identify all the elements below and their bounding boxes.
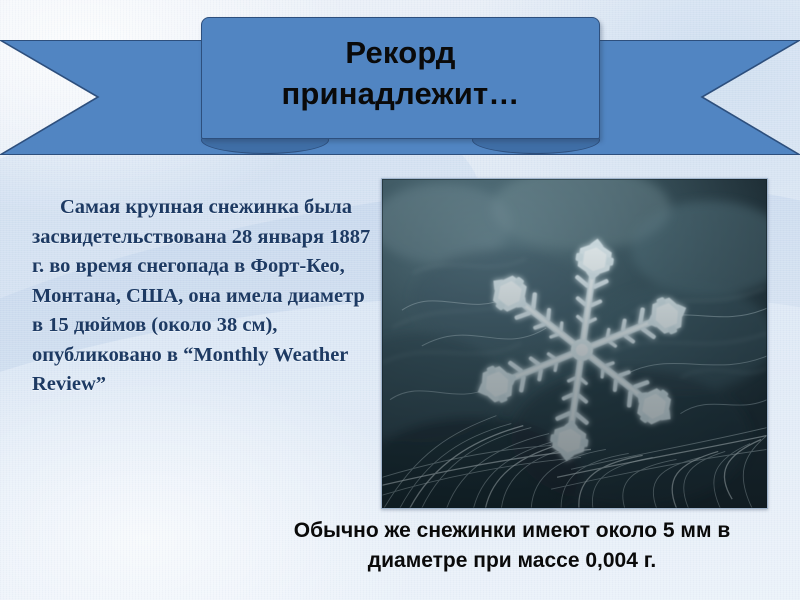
title-ribbon-banner: Рекорд принадлежит… [0, 0, 800, 170]
snowflake-photo [381, 178, 768, 509]
ribbon-title-panel: Рекорд принадлежит… [201, 17, 600, 139]
slide-title-line-1: Рекорд [216, 33, 585, 74]
slide-caption: Обычно же снежинки имеют около 5 мм в ди… [248, 516, 776, 576]
slide-title-line-2: принадлежит… [216, 74, 585, 115]
slide-canvas: Рекорд принадлежит… Самая крупная снежин… [0, 0, 800, 600]
slide-body-paragraph: Самая крупная снежинка была засвидетельс… [32, 193, 377, 400]
